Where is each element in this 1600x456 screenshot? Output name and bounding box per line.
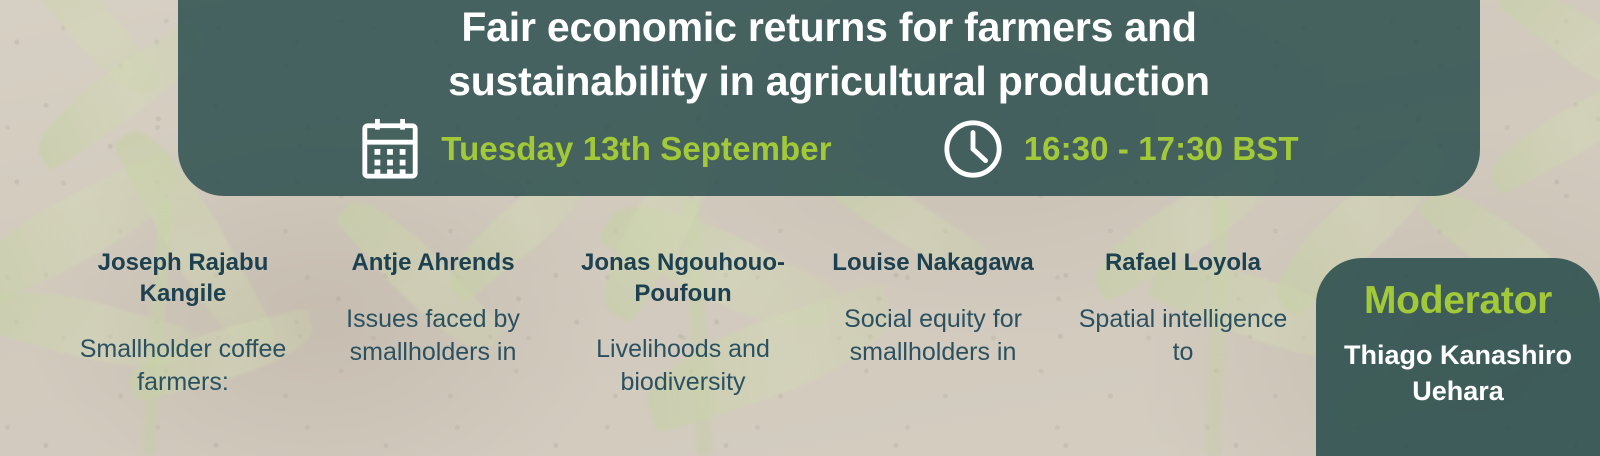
calendar-icon (359, 118, 421, 180)
speaker-card: Louise Nakagawa Social equity for smallh… (808, 248, 1058, 369)
speaker-name: Rafael Loyola (1068, 248, 1298, 279)
speaker-card: Rafael Loyola Spatial intelligence to (1058, 248, 1308, 369)
speaker-description: Spatial intelligence to (1068, 303, 1298, 369)
page-title: Fair economic returns for farmers and su… (204, 0, 1454, 108)
speaker-card: Joseph Rajabu Kangile Smallholder coffee… (58, 248, 308, 399)
moderator-title: Moderator (1330, 280, 1586, 323)
speaker-description: Livelihoods and biodiversity (568, 333, 798, 399)
speaker-card: Antje Ahrends Issues faced by smallholde… (308, 248, 558, 369)
speaker-description: Issues faced by smallholders in (318, 303, 548, 369)
speaker-name: Joseph Rajabu Kangile (68, 248, 298, 309)
speaker-name: Antje Ahrends (318, 248, 548, 279)
page-title-line-2: sustainability in agricultural productio… (204, 54, 1454, 108)
page-title-line-1: Fair economic returns for farmers and (204, 0, 1454, 54)
speaker-description: Social equity for smallholders in (818, 303, 1048, 369)
event-date-text: Tuesday 13th September (441, 130, 831, 168)
event-time-group: 16:30 - 17:30 BST (942, 118, 1299, 180)
clock-icon (942, 118, 1004, 180)
speaker-card: Jonas Ngouhouo-Poufoun Livelihoods and b… (558, 248, 808, 399)
header-meta-row: Tuesday 13th September 16:30 - 17:30 BST (204, 118, 1454, 180)
moderator-card: Moderator Thiago Kanashiro Uehara (1316, 258, 1600, 456)
speaker-description: Smallholder coffee farmers: (68, 333, 298, 399)
moderator-name: Thiago Kanashiro Uehara (1330, 337, 1586, 409)
event-time-text: 16:30 - 17:30 BST (1024, 130, 1299, 168)
event-date-group: Tuesday 13th September (359, 118, 831, 180)
speaker-name: Louise Nakagawa (818, 248, 1048, 279)
header-card: Fair economic returns for farmers and su… (178, 0, 1480, 196)
speaker-name: Jonas Ngouhouo-Poufoun (568, 248, 798, 309)
webinar-poster: Fair economic returns for farmers and su… (0, 0, 1600, 456)
speakers-list: Joseph Rajabu Kangile Smallholder coffee… (58, 248, 1308, 399)
